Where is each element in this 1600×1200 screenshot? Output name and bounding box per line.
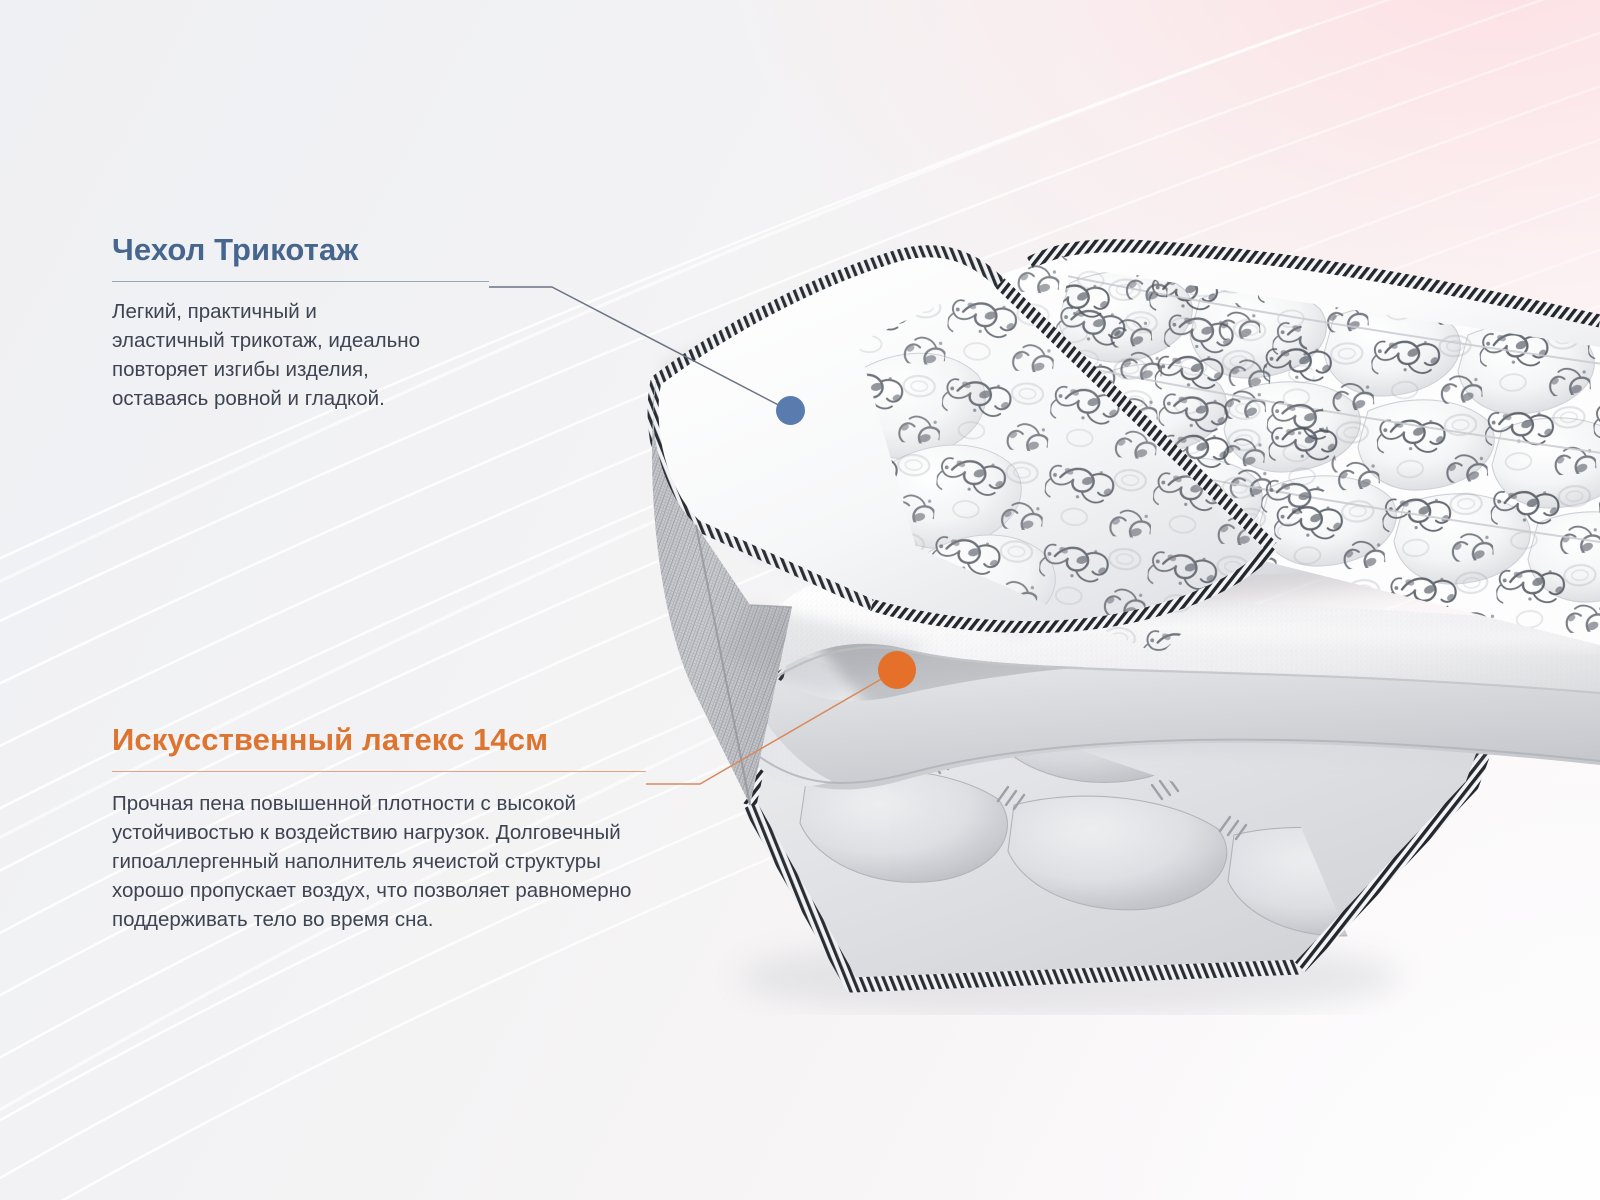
cover-title-rule [112,281,489,282]
latex-description: Прочная пена повышенной плотности с высо… [112,789,632,935]
infographic-canvas: Чехол Трикотаж Легкий, практичный и элас… [0,0,1600,1200]
cover-title: Чехол Трикотаж [112,232,442,268]
callout-latex: Искусственный латекс 14см Прочная пена п… [112,722,652,935]
cover-description: Легкий, практичный и эластичный трикотаж… [112,297,434,413]
latex-title: Искусственный латекс 14см [112,722,652,758]
latex-marker-dot[interactable] [878,651,916,689]
mattress-cutaway-illustration [600,225,1600,1015]
cover-marker-dot[interactable] [776,396,805,425]
callout-cover: Чехол Трикотаж Легкий, практичный и элас… [112,232,442,413]
latex-title-rule [112,771,646,772]
